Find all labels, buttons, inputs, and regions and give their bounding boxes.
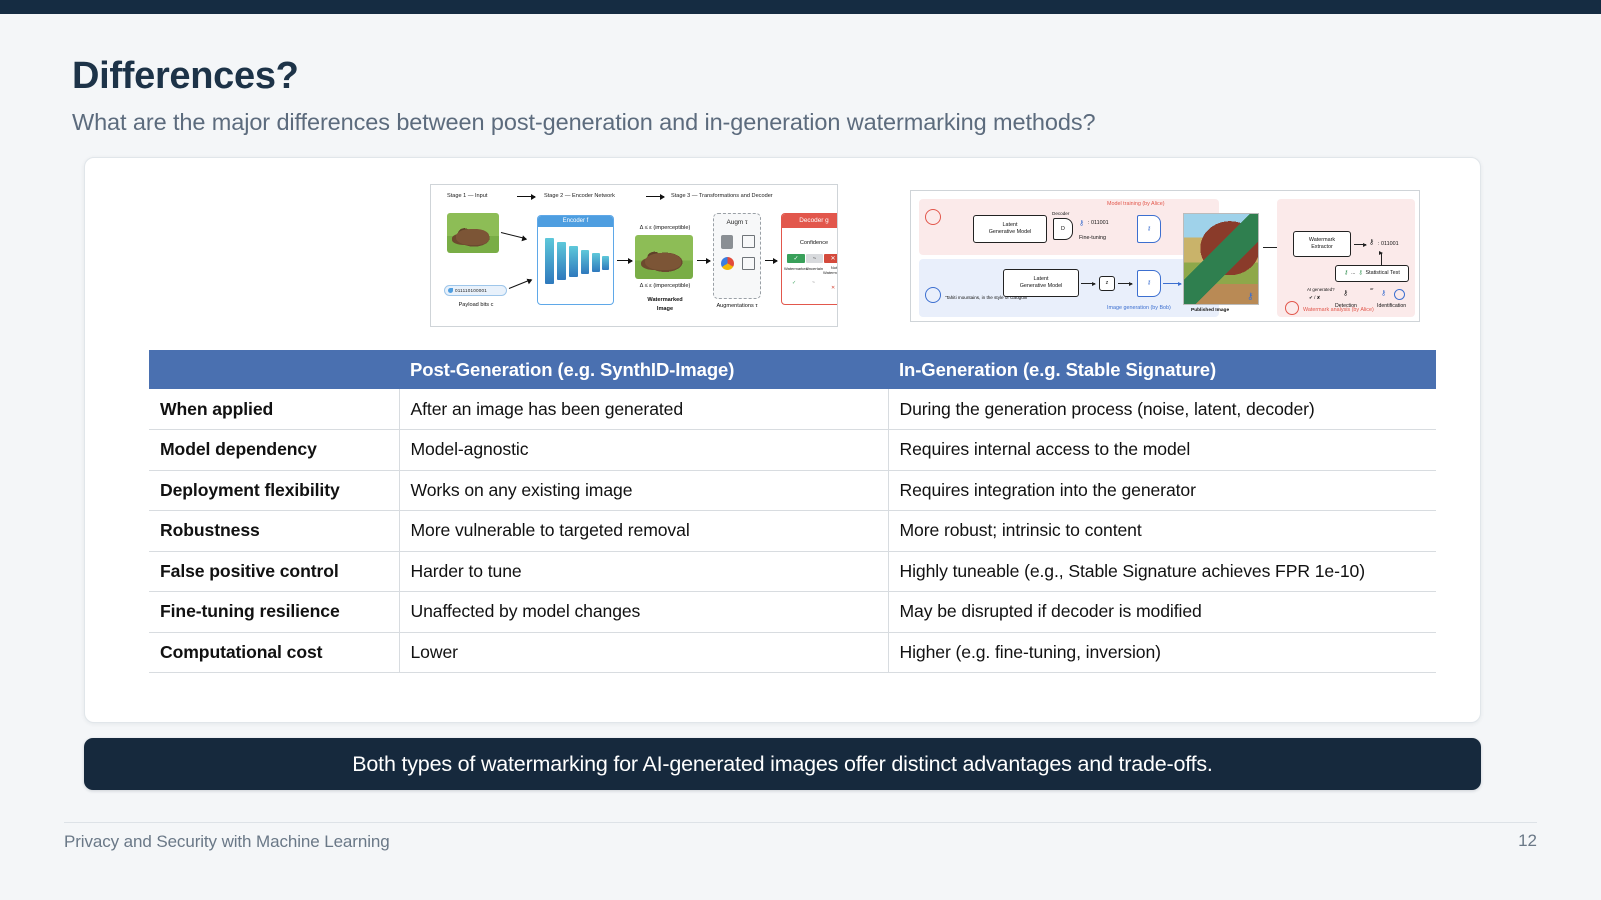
training-key-box: ⚷	[1137, 215, 1161, 243]
or-label: or	[1370, 286, 1374, 291]
encoder-layer	[545, 238, 554, 284]
statistical-test-label: Statistical Test	[1366, 270, 1400, 277]
stage-arrow-2-icon	[646, 196, 664, 197]
latent-to-decoder-arrow-icon	[1118, 283, 1132, 284]
confidence-cell-not-watermarked: ✕	[824, 254, 838, 263]
encoder-layer	[557, 242, 566, 280]
resize-icon	[742, 257, 755, 270]
check-mark-icon: ✓	[792, 280, 796, 286]
key-icon: ⚷	[1079, 219, 1084, 227]
row-post-value: Model-agnostic	[399, 430, 888, 471]
identification-key-icon: ⚷	[1381, 289, 1386, 297]
color-adjust-icon	[721, 257, 734, 270]
page-number: 12	[1518, 831, 1537, 851]
encoder-to-watermarked-arrow-icon	[617, 260, 632, 261]
model-box-line1: Latent	[1034, 276, 1049, 283]
row-post-value: Lower	[399, 632, 888, 673]
latent-generative-model-training-box: Latent Generative Model	[973, 215, 1047, 243]
payload-bits-caption: Payload bits c	[441, 302, 511, 308]
identified-user-icon	[1394, 289, 1405, 300]
table-row: Deployment flexibility Works on any exis…	[149, 470, 1436, 511]
delta-top-label: Δ ≤ ε (imperceptible)	[627, 225, 703, 231]
table-row: Robustness More vulnerable to targeted r…	[149, 511, 1436, 552]
table-row: False positive control Harder to tune Hi…	[149, 551, 1436, 592]
row-in-value: During the generation process (noise, la…	[888, 389, 1436, 430]
confidence-name-uncertain: Uncertain	[805, 266, 824, 271]
confidence-cell-watermarked: ✓	[787, 254, 805, 263]
extracted-key-icon: ⚷	[1369, 238, 1374, 246]
generation-key-box: ⚷	[1137, 270, 1161, 297]
confidence-cell-uncertain: ~	[806, 254, 823, 263]
takeaway-banner: Both types of watermarking for AI-genera…	[84, 738, 1481, 790]
keys-ellipsis: ...	[1351, 270, 1356, 277]
ai-generated-marks: ✔ / ✘	[1309, 295, 1321, 301]
table-row: Computational cost Lower Higher (e.g. fi…	[149, 632, 1436, 673]
table-header-in-generation: In-Generation (e.g. Stable Signature)	[888, 350, 1436, 389]
row-post-value: After an image has been generated	[399, 389, 888, 430]
extractor-line1: Watermark	[1309, 237, 1335, 244]
row-in-value: Higher (e.g. fine-tuning, inversion)	[888, 632, 1436, 673]
alice-avatar-icon	[925, 209, 941, 225]
green-key-icon: ⚷	[1344, 270, 1348, 277]
model-box-line2: Generative Model	[989, 229, 1032, 236]
decoder-header-label: Decoder g	[782, 214, 838, 228]
table-header-row: Post-Generation (e.g. SynthID-Image) In-…	[149, 350, 1436, 389]
page-subtitle: What are the major differences between p…	[72, 108, 1472, 136]
delta-bottom-label: Δ ≤ ε (imperceptible)	[627, 283, 703, 289]
post-generation-pipeline-figure: Stage 1 — Input Stage 2 — Encoder Networ…	[430, 184, 838, 327]
confidence-label: Confidence	[782, 240, 838, 246]
stage-3-label: Stage 3 — Transformations and Decoder	[671, 193, 773, 199]
encoder-layer	[602, 256, 609, 270]
stage-arrow-1-icon	[517, 196, 535, 197]
slide-header: Differences? What are the major differen…	[72, 55, 1472, 136]
latent-z-box: z	[1099, 276, 1115, 291]
table-body: When applied After an image has been gen…	[149, 389, 1436, 673]
table-row: Fine-tuning resilience Unaffected by mod…	[149, 592, 1436, 633]
bits-down-arrow-icon	[1381, 253, 1382, 265]
augmentations-box-label: Augm τ	[713, 219, 761, 226]
table-head: Post-Generation (e.g. SynthID-Image) In-…	[149, 350, 1436, 389]
tag-icon	[448, 288, 453, 293]
row-key: When applied	[149, 389, 399, 430]
takeaway-text: Both types of watermarking for AI-genera…	[352, 752, 1212, 777]
input-to-encoder-arrow-icon	[501, 232, 526, 239]
row-in-value: Requires internal access to the model	[888, 430, 1436, 471]
ai-generated-question: AI generated?	[1307, 287, 1335, 292]
row-key: False positive control	[149, 551, 399, 592]
row-key: Computational cost	[149, 632, 399, 673]
figure-row: Stage 1 — Input Stage 2 — Encoder Networ…	[85, 184, 1480, 329]
watermarked-to-augment-arrow-icon	[697, 260, 710, 261]
encoder-header-label: Encoder f	[538, 216, 613, 227]
footer-divider	[64, 822, 1537, 823]
statistical-test-box: ⚷ ... ⚷ Statistical Test	[1335, 265, 1409, 282]
model-box-line1: Latent	[1003, 222, 1018, 229]
green-key-icon: ⚷	[1359, 270, 1363, 277]
cross-mark-icon: ✕	[831, 285, 835, 291]
watermark-analysis-pane	[1277, 199, 1415, 317]
encoder-layer	[569, 246, 578, 277]
crop-icon	[742, 235, 755, 248]
table-row: When applied After an image has been gen…	[149, 389, 1436, 430]
watermarked-caption-line2: Image	[630, 306, 700, 312]
payload-bits-pill: 011110100001	[444, 285, 507, 296]
in-generation-stable-signature-figure: Model training (by Alice) Latent Generat…	[910, 190, 1420, 322]
extractor-to-bits-arrow-icon	[1354, 244, 1366, 245]
decoder-box: Decoder g Confidence ✓ ~ ✕ Watermarked U…	[781, 213, 838, 305]
watermarked-caption-line1: Watermarked	[630, 297, 700, 303]
watermarked-image-thumbnail	[635, 235, 693, 279]
extractor-line2: Extractor	[1311, 244, 1333, 251]
tilde-mark-icon: ~	[812, 280, 815, 286]
augmentations-caption: Augmentations τ	[712, 303, 762, 309]
footer-course-name: Privacy and Security with Machine Learni…	[64, 832, 390, 852]
decoder-to-image-arrow-icon	[1163, 283, 1181, 284]
table-header-post-generation: Post-Generation (e.g. SynthID-Image)	[399, 350, 888, 389]
row-in-value: Highly tuneable (e.g., Stable Signature …	[888, 551, 1436, 592]
image-generation-title: Image generation (by Bob)	[1107, 305, 1171, 311]
published-image-caption: Published Image	[1191, 308, 1229, 313]
encoder-layer	[592, 253, 600, 272]
latent-generative-model-generation-box: Latent Generative Model	[1003, 269, 1079, 297]
decoder-d-box: D	[1053, 218, 1073, 240]
input-image-thumbnail	[447, 213, 499, 253]
slide: Differences? What are the major differen…	[0, 0, 1601, 900]
row-post-value: Unaffected by model changes	[399, 592, 888, 633]
model-training-title: Model training (by Alice)	[1107, 201, 1165, 207]
comparison-table: Post-Generation (e.g. SynthID-Image) In-…	[149, 350, 1436, 673]
augment-to-decoder-arrow-icon	[765, 260, 777, 261]
decoder-small-label: Decoder	[1052, 211, 1069, 216]
alice-analysis-avatar-icon	[1285, 301, 1299, 315]
training-key-bits: : 011001	[1088, 220, 1109, 226]
watermark-analysis-title: Watermark analysis (by Alice)	[1303, 307, 1374, 313]
top-accent-bar	[0, 0, 1601, 14]
extracted-bits: : 011001	[1378, 241, 1399, 247]
row-in-value: Requires integration into the generator	[888, 470, 1436, 511]
stage-1-label: Stage 1 — Input	[447, 193, 487, 199]
model-to-latent-arrow-icon	[1081, 283, 1095, 284]
watermark-extractor-box: Watermark Extractor	[1293, 231, 1351, 257]
row-key: Deployment flexibility	[149, 470, 399, 511]
table-header-attribute	[149, 350, 399, 389]
content-card: Stage 1 — Input Stage 2 — Encoder Networ…	[84, 157, 1481, 723]
row-key: Robustness	[149, 511, 399, 552]
payload-bits-value: 011110100001	[455, 288, 487, 293]
row-key: Model dependency	[149, 430, 399, 471]
detection-key-icon: ⚷	[1343, 289, 1348, 297]
row-post-value: Harder to tune	[399, 551, 888, 592]
identification-label: Identification	[1377, 303, 1406, 309]
row-post-value: Works on any existing image	[399, 470, 888, 511]
jpeg-icon	[721, 235, 733, 249]
stage-2-label: Stage 2 — Encoder Network	[544, 193, 615, 199]
payload-to-encoder-arrow-icon	[509, 279, 532, 289]
row-post-value: More vulnerable to targeted removal	[399, 511, 888, 552]
row-in-value: More robust; intrinsic to content	[888, 511, 1436, 552]
confidence-name-not-watermarked: Not Watermarked	[823, 266, 838, 276]
confidence-name-watermarked: Watermarked	[784, 266, 806, 271]
table-row: Model dependency Model-agnostic Requires…	[149, 430, 1436, 471]
model-box-line2: Generative Model	[1020, 283, 1063, 290]
encoder-layer	[581, 250, 589, 274]
page-title: Differences?	[72, 55, 1472, 99]
row-key: Fine-tuning resilience	[149, 592, 399, 633]
watermark-key-icon: ⚷	[1247, 291, 1254, 302]
fine-tuning-label: Fine-tuning	[1079, 235, 1106, 241]
row-in-value: May be disrupted if decoder is modified	[888, 592, 1436, 633]
bob-avatar-icon	[925, 287, 941, 303]
